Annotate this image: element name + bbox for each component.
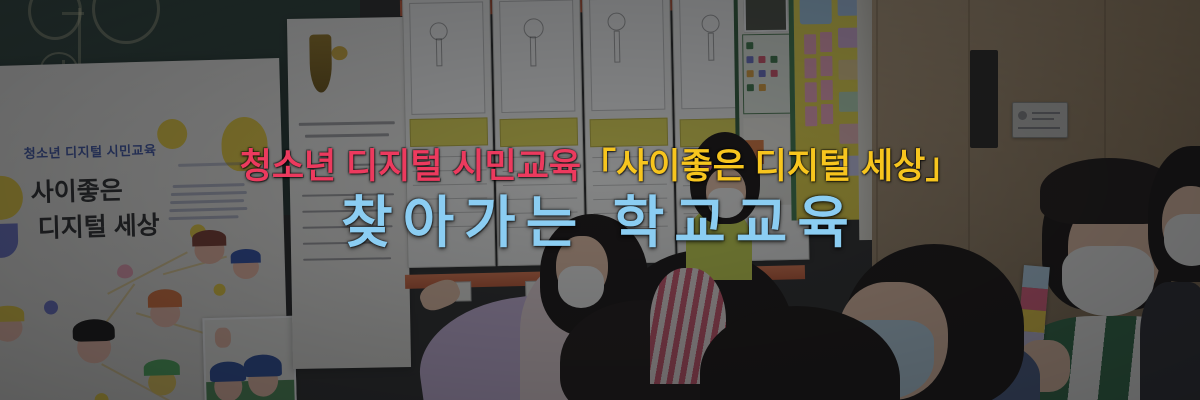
banner-title-line1: 청소년 디지털 시민교육「사이좋은 디지털 세상」	[240, 149, 961, 184]
banner-title-program-name: 청소년 디지털 시민교육	[240, 147, 581, 186]
program-banner: 청소년 디지털 시민교육 사이좋은 디지털 세상	[0, 0, 1200, 400]
banner-title-campaign-name: 「사이좋은 디지털 세상」	[581, 147, 960, 186]
banner-title-line2: 찾아가는 학교교육	[341, 195, 859, 251]
banner-title-block: 청소년 디지털 시민교육「사이좋은 디지털 세상」 찾아가는 학교교육	[0, 0, 1200, 400]
